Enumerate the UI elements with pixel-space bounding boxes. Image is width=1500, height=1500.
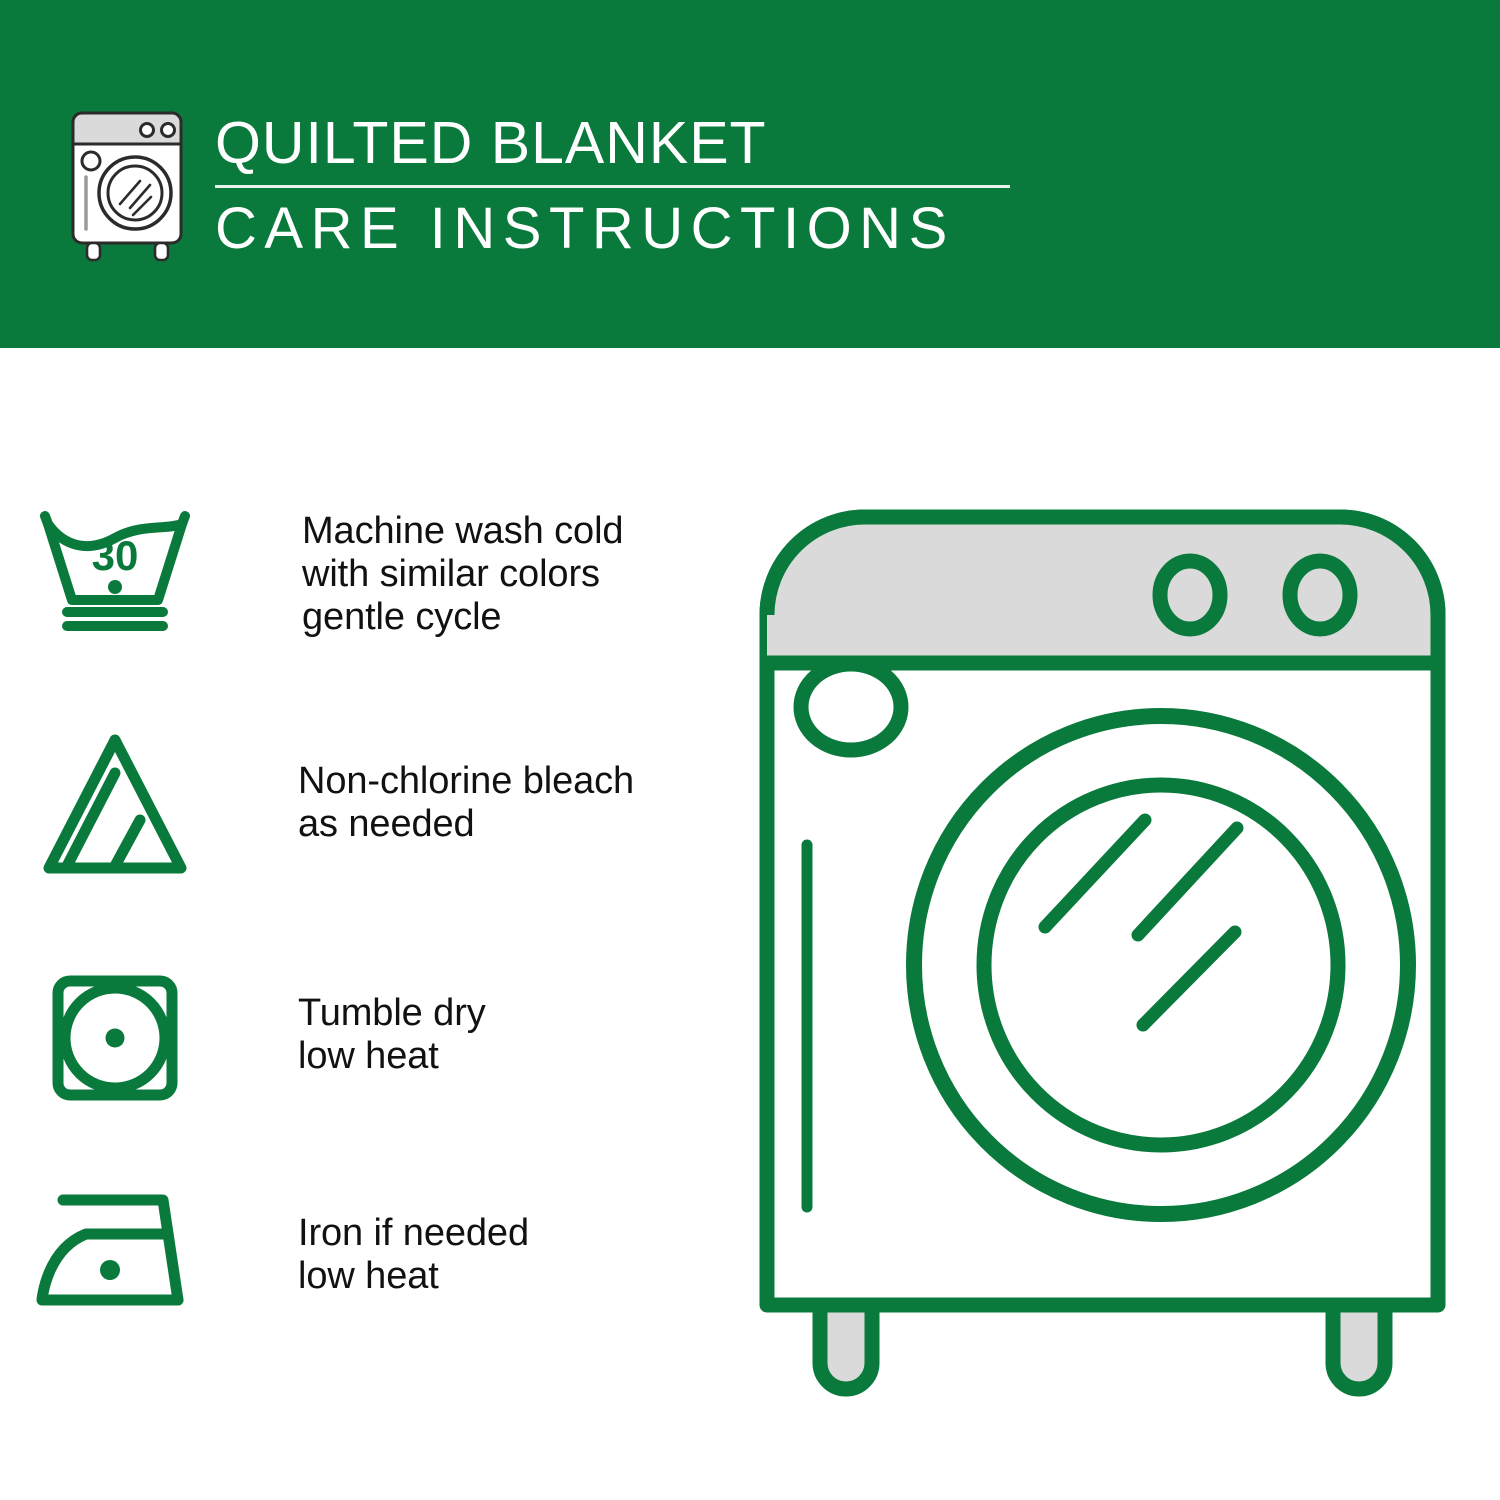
care-text-line: low heat xyxy=(298,1035,486,1078)
care-text-line: gentle cycle xyxy=(302,596,623,639)
header-title-block: QUILTED BLANKET CARE INSTRUCTIONS xyxy=(215,108,1035,263)
care-text-line: Non-chlorine bleach xyxy=(298,760,634,803)
iron-low-heat-icon xyxy=(0,1188,230,1318)
page-title: QUILTED BLANKET xyxy=(215,108,1035,178)
leg-right xyxy=(1333,1305,1385,1389)
title-divider xyxy=(215,185,1010,188)
leg-left xyxy=(820,1305,872,1389)
tumble-dry-low-icon xyxy=(0,968,230,1108)
knob-left xyxy=(1160,561,1220,629)
front-load-washing-machine-illustration xyxy=(745,495,1460,1425)
care-row-tumble-dry: Tumble dry low heat xyxy=(0,968,740,1108)
care-text-line: Machine wash cold xyxy=(302,510,623,553)
care-text-iron: Iron if needed low heat xyxy=(298,1210,529,1298)
care-text-line: low heat xyxy=(298,1255,529,1298)
header-band: QUILTED BLANKET CARE INSTRUCTIONS xyxy=(0,0,1500,348)
care-instructions-infographic: QUILTED BLANKET CARE INSTRUCTIONS xyxy=(0,0,1500,1500)
care-text-bleach: Non-chlorine bleach as needed xyxy=(298,758,634,846)
care-row-wash: 30 Machine wash cold with similar colors… xyxy=(0,508,740,639)
care-text-line: as needed xyxy=(298,803,634,846)
care-row-iron: Iron if needed low heat xyxy=(0,1188,740,1318)
care-text-line: with similar colors xyxy=(302,553,623,596)
care-text-wash: Machine wash cold with similar colors ge… xyxy=(302,508,623,639)
care-text-line: Tumble dry xyxy=(298,992,486,1035)
care-text-line: Iron if needed xyxy=(298,1212,529,1255)
washing-machine-icon xyxy=(63,105,191,265)
wash-tub-30-icon: 30 xyxy=(0,508,230,633)
knob-right xyxy=(1290,561,1350,629)
care-instruction-list: 30 Machine wash cold with similar colors… xyxy=(0,348,740,1500)
non-chlorine-bleach-triangle-icon xyxy=(0,728,230,878)
wash-temperature-label: 30 xyxy=(92,532,139,579)
detergent-dispenser xyxy=(801,664,901,750)
care-row-bleach: Non-chlorine bleach as needed xyxy=(0,728,740,878)
drum-door-inner-ring xyxy=(984,785,1338,1145)
care-text-tumble-dry: Tumble dry low heat xyxy=(298,990,486,1078)
page-subtitle: CARE INSTRUCTIONS xyxy=(215,195,1035,263)
